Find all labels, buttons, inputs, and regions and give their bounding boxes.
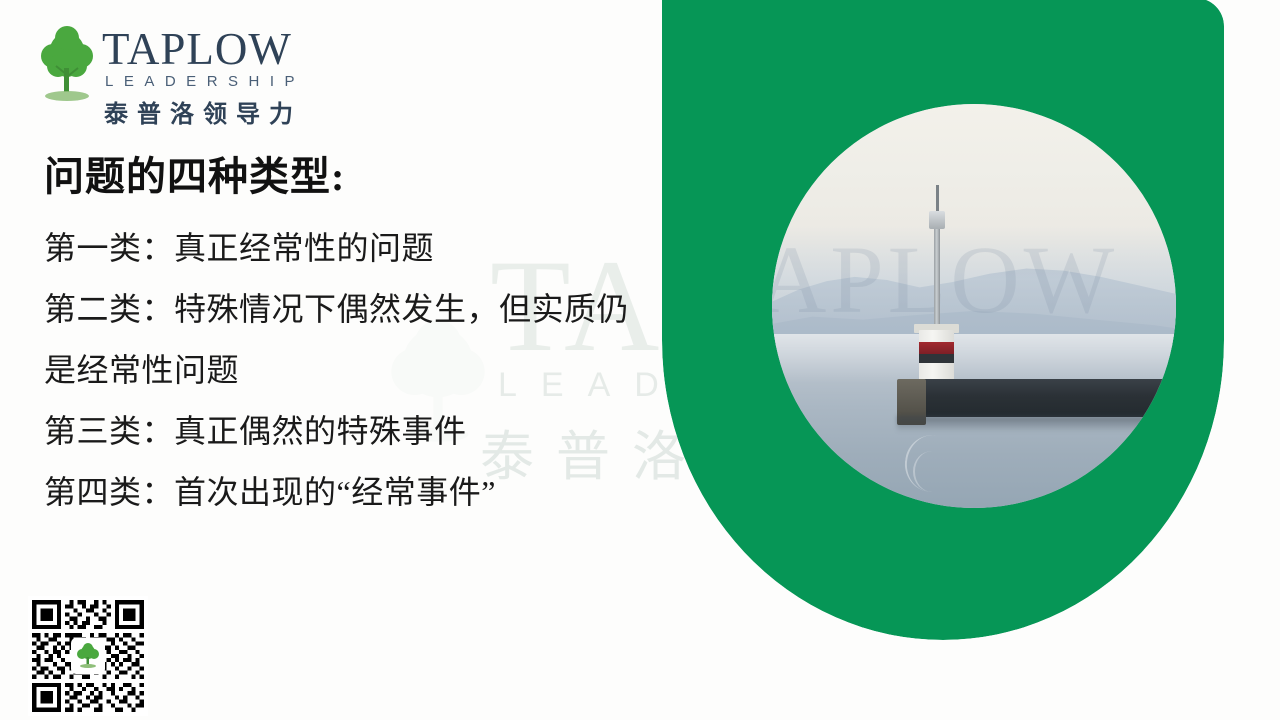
logo-title: TAPLOW bbox=[102, 26, 305, 72]
photo-beacon-red-band bbox=[919, 342, 953, 355]
list-item: 第四类：首次出现的“经常事件” bbox=[44, 462, 644, 523]
brand-logo: TAPLOW LEADERSHIP 泰普洛领导力 bbox=[38, 24, 328, 120]
photo-lighthouse: TAPLOW 泰普洛领导力 bbox=[772, 104, 1176, 508]
qr-code[interactable] bbox=[28, 596, 148, 716]
page-title: 问题的四种类型: bbox=[44, 150, 644, 204]
qr-center-tree-icon bbox=[71, 638, 105, 674]
problem-type-list: 第一类：真正经常性的问题 第二类：特殊情况下偶然发生，但实质仍是经常性问题 第三… bbox=[44, 218, 644, 523]
photo-pier bbox=[905, 379, 1176, 417]
slide-canvas: TAPLOW LEADERSHIP 泰普洛领导力 TAPLOW 泰普洛领导力 bbox=[0, 0, 1280, 720]
logo-chinese-name: 泰普洛领导力 bbox=[104, 94, 305, 129]
logo-subtitle: LEADERSHIP bbox=[105, 73, 305, 90]
photo-ripple-2 bbox=[913, 451, 951, 491]
list-item: 第二类：特殊情况下偶然发生，但实质仍是经常性问题 bbox=[44, 279, 644, 401]
photo-water-sheen bbox=[772, 334, 1176, 382]
list-item: 第三类：真正偶然的特殊事件 bbox=[44, 401, 644, 462]
photo-beacon-dark-band bbox=[919, 354, 953, 363]
tree-icon bbox=[38, 24, 96, 116]
photo-pier-shadow bbox=[897, 416, 1176, 432]
logo-text-block: TAPLOW LEADERSHIP 泰普洛领导力 bbox=[102, 24, 305, 129]
list-item: 第一类：真正经常性的问题 bbox=[44, 218, 644, 279]
photo-beacon-spire bbox=[936, 185, 939, 213]
photo-haze bbox=[772, 225, 1176, 346]
slide-content: 问题的四种类型: 第一类：真正经常性的问题 第二类：特殊情况下偶然发生，但实质仍… bbox=[44, 150, 644, 523]
tree-icon bbox=[75, 642, 101, 670]
photo-beacon-mast bbox=[934, 229, 940, 326]
photo-beacon-lamp bbox=[929, 211, 945, 229]
